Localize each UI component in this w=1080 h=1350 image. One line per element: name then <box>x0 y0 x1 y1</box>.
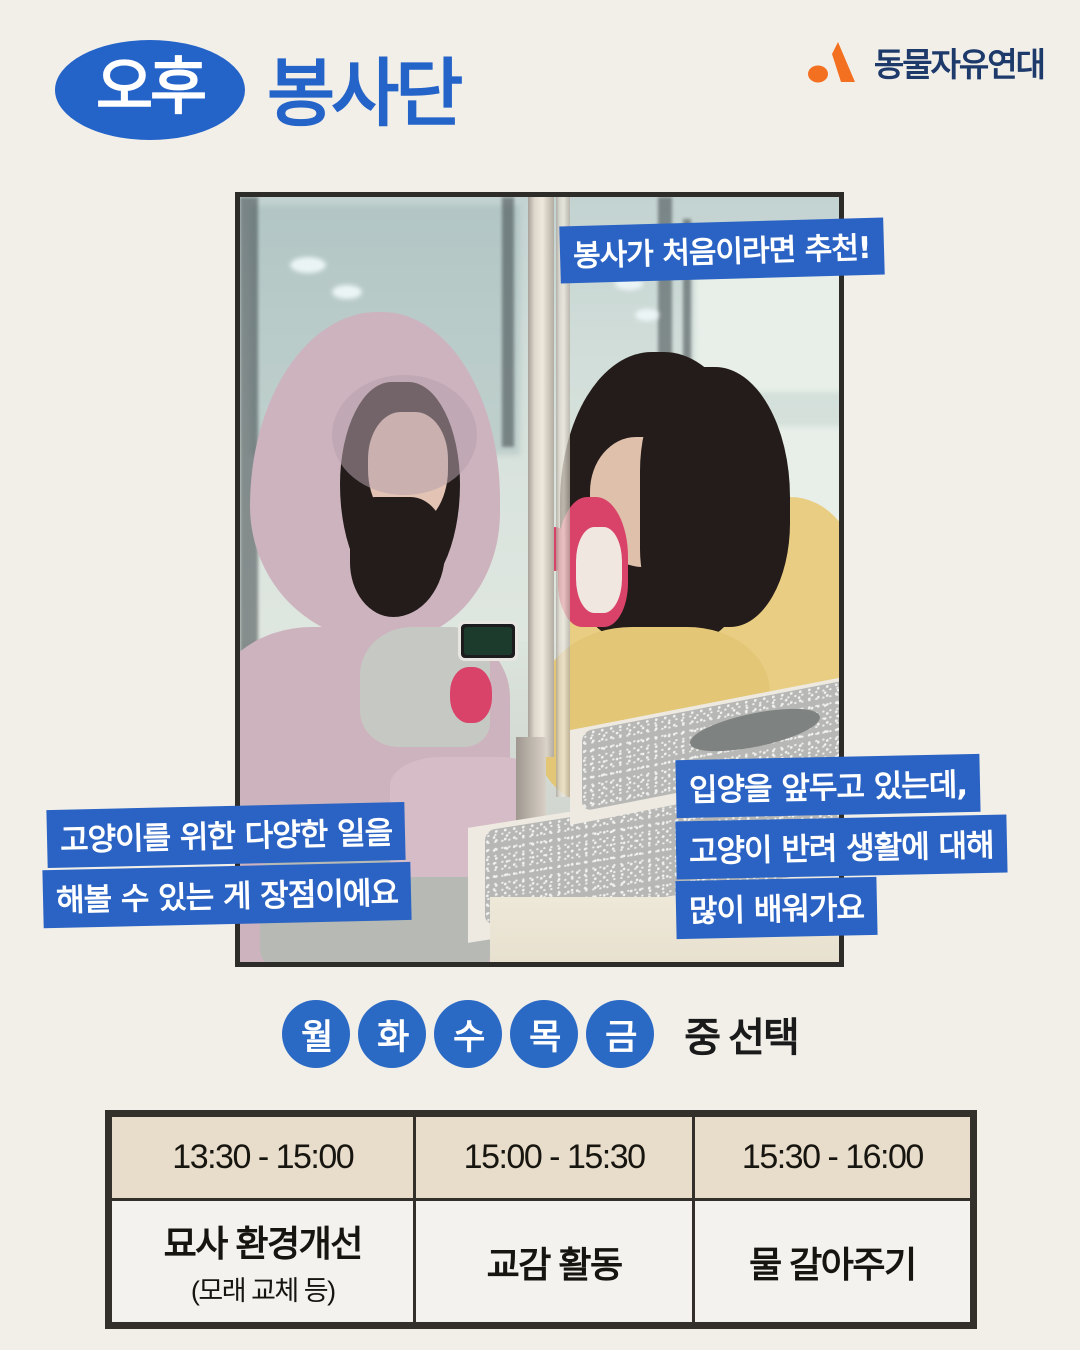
day-selector: 월 화 수 목 금 중 선택 <box>0 1000 1080 1068</box>
schedule-table: 13:30 - 15:00 15:00 - 15:30 15:30 - 16:0… <box>105 1110 977 1329</box>
title-main-label: 봉사단 <box>267 57 459 131</box>
photo-caption-right: 입양을 앞두고 있는데, 고양이 반려 생활에 대해 많이 배워가요 <box>676 757 1007 940</box>
photo-shelf-post <box>556 197 570 797</box>
photo-shelf-post <box>528 197 554 757</box>
table-row: 묘사 환경개선 (모래 교체 등) 교감 활동 물 갈아주기 <box>111 1200 972 1324</box>
time-slot-2: 15:00 - 15:30 <box>415 1116 693 1200</box>
caption-line: 해볼 수 있는 게 장점이에요 <box>42 862 411 928</box>
caption-line: 봉사가 처음이라면 추천! <box>559 217 884 283</box>
day-chip-label: 수 <box>453 1009 483 1060</box>
activity-main-label: 묘사 환경개선 <box>164 1223 362 1264</box>
photo-smartwatch-face <box>464 627 512 655</box>
activity-cell-1: 묘사 환경개선 (모래 교체 등) <box>111 1200 415 1324</box>
day-chip-label: 금 <box>605 1009 635 1060</box>
organization-logo: 동물자유연대 <box>808 38 1044 86</box>
photo-smartwatch <box>458 621 518 661</box>
title-badge-oval: 오후 <box>55 40 245 140</box>
photo-ceiling-light <box>290 257 326 273</box>
photo-glove <box>450 667 492 723</box>
time-slot-3: 15:30 - 16:00 <box>693 1116 971 1200</box>
photo-ceiling-light <box>332 285 362 299</box>
day-chip-fri[interactable]: 금 <box>586 1000 654 1068</box>
day-chip-mon[interactable]: 월 <box>282 1000 350 1068</box>
photo-ceiling-light <box>635 309 659 321</box>
caption-line: 고양이를 위한 다양한 일을 <box>46 802 405 868</box>
caption-line: 고양이 반려 생활에 대해 <box>675 815 1007 880</box>
activity-main-label: 교감 활동 <box>487 1244 622 1285</box>
logo-triangle-icon <box>808 40 864 84</box>
day-selector-suffix: 중 선택 <box>684 1005 798 1063</box>
logo-text-label: 동물자유연대 <box>874 38 1044 86</box>
day-chip-thu[interactable]: 목 <box>510 1000 578 1068</box>
page-title: 오후 봉사단 <box>55 40 459 140</box>
caption-line: 많이 배워가요 <box>675 877 877 939</box>
photo-glass-frame <box>502 197 514 447</box>
activity-main-label: 물 갈아주기 <box>749 1244 916 1285</box>
day-chip-label: 목 <box>529 1009 559 1060</box>
logo-mark-icon <box>808 40 864 84</box>
day-chip-tue[interactable]: 화 <box>358 1000 426 1068</box>
time-slot-1: 13:30 - 15:00 <box>111 1116 415 1200</box>
day-chip-label: 화 <box>377 1009 407 1060</box>
poster-header: 오후 봉사단 동물자유연대 <box>0 0 1080 185</box>
photo-caption-left: 고양이를 위한 다양한 일을 해볼 수 있는 게 장점이에요 <box>47 806 415 924</box>
day-chip-wed[interactable]: 수 <box>434 1000 502 1068</box>
caption-line: 입양을 앞두고 있는데, <box>675 754 980 818</box>
photo-caption-top: 봉사가 처음이라면 추천! <box>559 217 884 283</box>
title-badge-label: 오후 <box>96 57 204 119</box>
photo-glove-pad <box>576 527 622 613</box>
photo-person-right-hair <box>640 367 790 627</box>
photo-glass-frame <box>240 197 258 667</box>
photo-person-left-hood-inner <box>332 375 477 495</box>
day-chip-label: 월 <box>301 1009 331 1060</box>
table-header-row: 13:30 - 15:00 15:00 - 15:30 15:30 - 16:0… <box>111 1116 972 1200</box>
activity-cell-2: 교감 활동 <box>415 1200 693 1324</box>
activity-cell-3: 물 갈아주기 <box>693 1200 971 1324</box>
activity-sub-label: (모래 교체 등) <box>112 1269 413 1308</box>
